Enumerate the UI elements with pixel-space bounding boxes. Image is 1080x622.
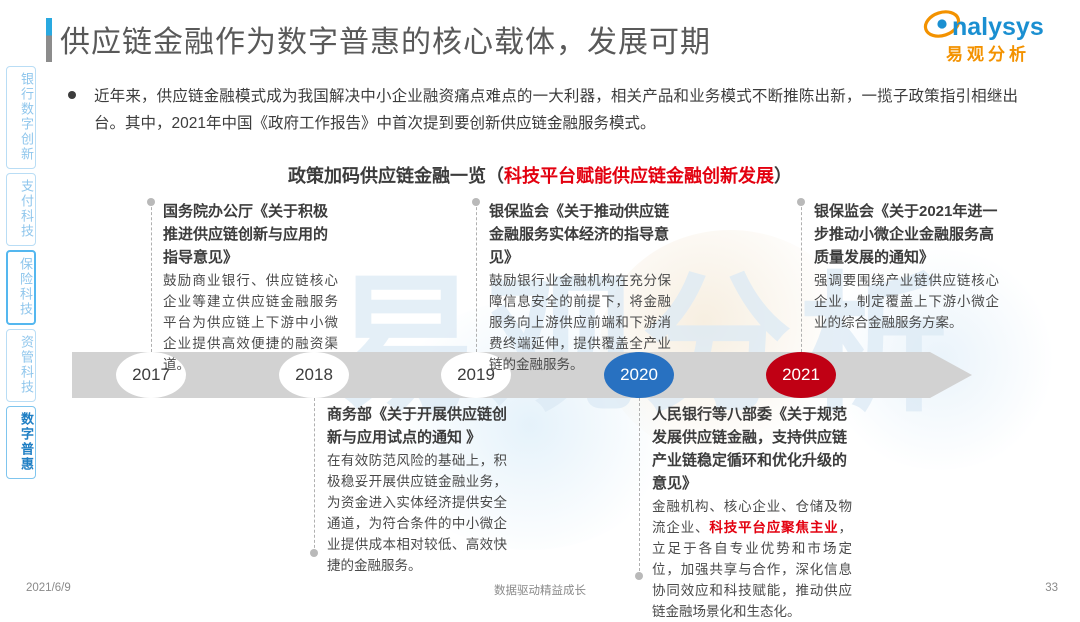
timeline-node-2021[interactable]: 2021 [766,352,836,398]
entry-body: 强调要围绕产业链供应链核心企业，制定覆盖上下游小微企业的综合金融服务方案。 [814,270,999,333]
connector-2017 [151,202,153,352]
sidebar-item-asset-mgmt[interactable]: 资管科技 [6,329,36,402]
entry-heading: 国务院办公厅《关于积极推进供应链创新与应用的指导意见》 [163,200,338,269]
entry-body: 在有效防范风险的基础上，积极稳妥开展供应链金融业务，为资金进入实体经济提供安全通… [327,450,507,576]
timeline-arrow-icon [930,352,972,398]
connector-2020 [639,398,641,576]
entry-body: 鼓励商业银行、供应链核心企业等建立供应链金融服务平台为供应链上下游中小微企业提供… [163,270,338,375]
footer-slogan: 数据驱动精益成长 [0,582,1080,598]
entry-heading: 商务部《关于开展供应链创新与应用试点的通知 》 [327,403,507,449]
connector-dot-2020 [635,572,643,580]
entry-heading: 银保监会《关于2021年进一步推动小微企业金融服务高质量发展的通知》 [814,200,999,269]
connector-dot-2021 [797,198,805,206]
sidebar-item-payment[interactable]: 支付科技 [6,173,36,246]
section-title-accent: 科技平台赋能供应链金融创新发展 [504,166,774,186]
entry-2019: 银保监会《关于推动供应链金融服务实体经济的指导意见》 鼓励银行业金融机构在充分保… [489,200,671,375]
entry-heading: 人民银行等八部委《关于规范发展供应链金融，支持供应链产业链稳定循环和优化升级的意… [652,403,852,495]
entry-2018: 商务部《关于开展供应链创新与应用试点的通知 》 在有效防范风险的基础上，积极稳妥… [327,403,507,576]
sidebar-item-bank[interactable]: 银行数字创新 [6,66,36,169]
section-title-main: 政策加码供应链金融一览（ [288,166,504,186]
entry-heading: 银保监会《关于推动供应链金融服务实体经济的指导意见》 [489,200,671,269]
sidebar-item-insurance[interactable]: 保险科技 [6,250,36,325]
entry-2021: 银保监会《关于2021年进一步推动小微企业金融服务高质量发展的通知》 强调要围绕… [814,200,999,333]
bullet-dot-icon [68,91,76,99]
intro-text: 近年来，供应链金融模式成为我国解决中小企业融资痛点难点的一大利器，相关产品和业务… [94,83,1018,137]
section-title: 政策加码供应链金融一览（科技平台赋能供应链金融创新发展） [0,162,1080,188]
intro-paragraph: 近年来，供应链金融模式成为我国解决中小企业融资痛点难点的一大利器，相关产品和业务… [68,83,1018,137]
sidebar-item-digital-inclusive[interactable]: 数字普惠 [6,406,36,479]
title-accent-bar [46,18,52,62]
connector-dot-2018 [310,549,318,557]
entry-2017: 国务院办公厅《关于积极推进供应链创新与应用的指导意见》 鼓励商业银行、供应链核心… [163,200,338,375]
entry-body-accent: 科技平台应聚焦主业 [709,520,838,535]
entry-body: 金融机构、核心企业、仓储及物流企业、科技平台应聚焦主业，立足于各自专业优势和市场… [652,496,852,622]
connector-2019 [476,202,478,352]
connector-dot-2019 [472,198,480,206]
footer: 2021/6/9 数据驱动精益成长 33 [0,582,1080,602]
section-title-tail: ） [774,166,792,186]
analysys-logo: nalysys 易观分析 [922,8,1054,66]
side-tab-list: 银行数字创新 支付科技 保险科技 资管科技 数字普惠 [6,66,40,483]
footer-page-number: 33 [1045,582,1058,594]
connector-2021 [801,202,803,352]
connector-dot-2017 [147,198,155,206]
svg-text:nalysys: nalysys [952,13,1044,41]
connector-2018 [314,398,316,553]
entry-body: 鼓励银行业金融机构在充分保障信息安全的前提下，将金融服务向上游供应前端和下游消费… [489,270,671,375]
logo-subtitle: 易观分析 [922,40,1054,65]
page-title: 供应链金融作为数字普惠的核心载体，发展可期 [60,17,711,61]
